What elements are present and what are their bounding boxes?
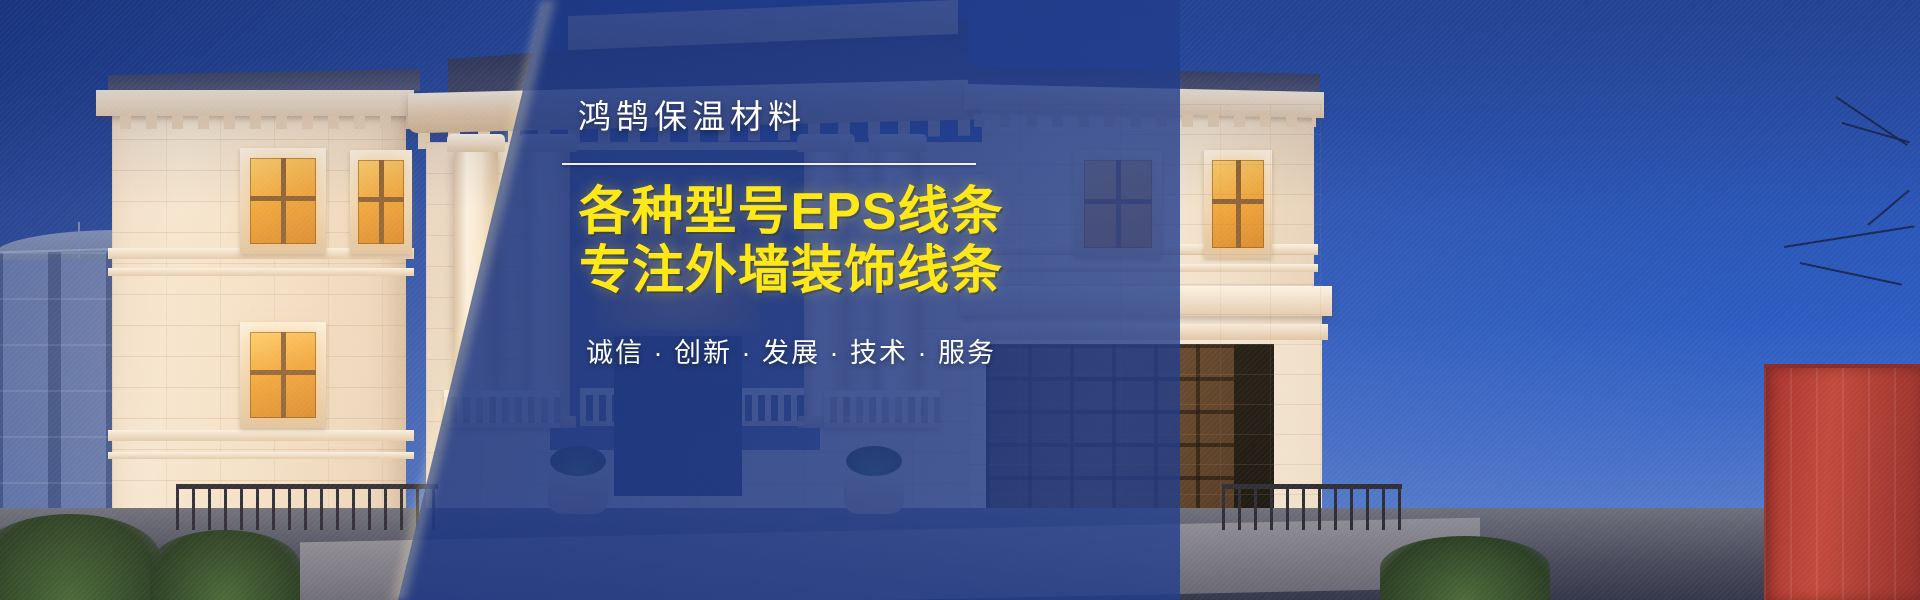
red-container-ribs — [1764, 368, 1920, 600]
left-wing-band-3 — [108, 430, 414, 441]
lit-window-lower-left — [250, 332, 316, 418]
headline: 各种型号EPS线条 专注外墙装饰线条 — [556, 183, 1026, 301]
shrub-far-left — [0, 514, 160, 600]
lit-window-upper-left — [250, 158, 316, 244]
left-wing-band-2 — [108, 268, 414, 276]
left-wing-dentils — [120, 116, 410, 129]
headline-line-2: 专注外墙装饰线条 — [556, 242, 1026, 301]
left-wing-cornice — [96, 90, 414, 116]
iron-railing-right — [1222, 484, 1402, 530]
left-wing-band-4 — [108, 452, 414, 459]
iron-railing-left — [176, 484, 438, 530]
red-container — [1764, 368, 1920, 600]
headline-line-1: 各种型号EPS线条 — [556, 183, 1026, 242]
brand-divider — [562, 163, 976, 165]
lit-window-upper-left-2 — [358, 160, 404, 244]
hero-banner: 鸿鹄保温材料 各种型号EPS线条 专注外墙装饰线条 诚信 · 创新 · 发展 ·… — [0, 0, 1920, 600]
shrub-right — [1380, 536, 1550, 600]
shrub-left — [150, 530, 300, 600]
rooftop-mast — [78, 222, 80, 258]
lit-window-upper-right-2 — [1212, 160, 1264, 248]
tagline: 诚信 · 创新 · 发展 · 技术 · 服务 — [556, 331, 1026, 370]
banner-text-block: 鸿鹄保温材料 各种型号EPS线条 专注外墙装饰线条 诚信 · 创新 · 发展 ·… — [556, 96, 1026, 370]
brand-name: 鸿鹄保温材料 — [556, 96, 1026, 137]
